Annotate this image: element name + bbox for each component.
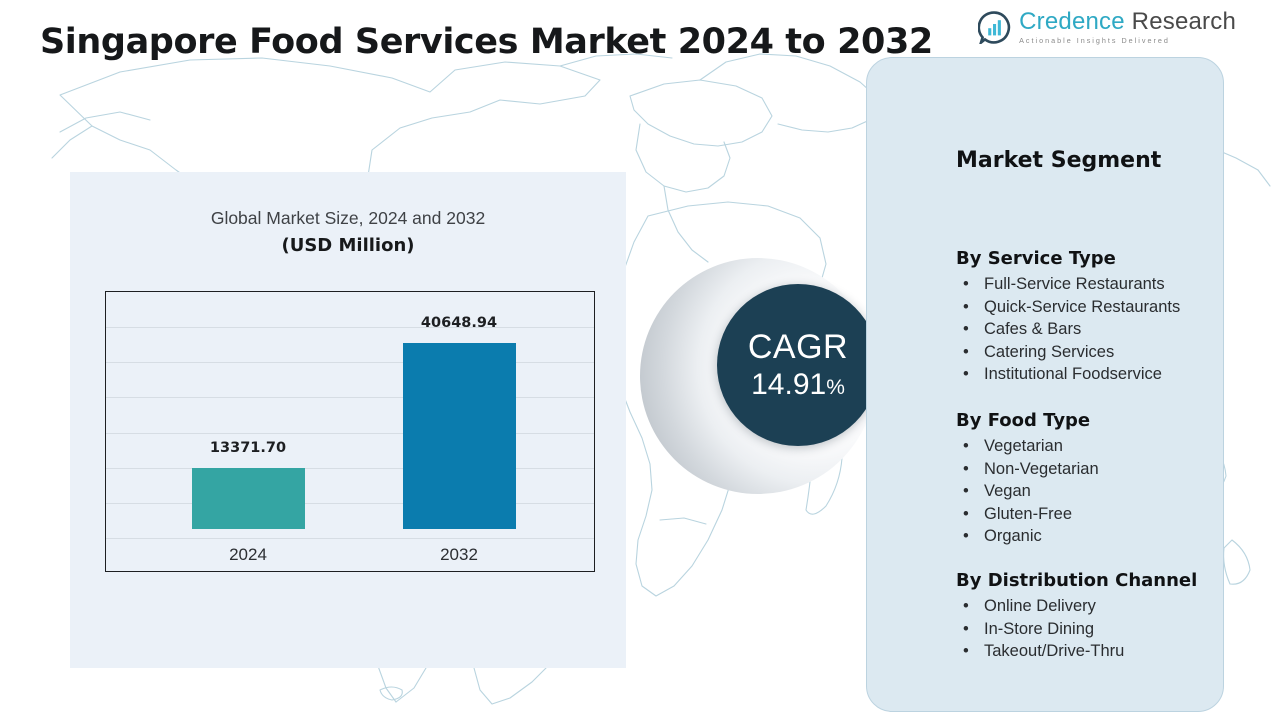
segment-list-item: •Quick-Service Restaurants (956, 296, 1226, 319)
segment-list-item: •Gluten-Free (956, 503, 1226, 526)
chart-title: Global Market Size, 2024 and 2032 (70, 208, 626, 229)
segment-item-label: Vegan (984, 482, 1031, 500)
bar-category-label: 2032 (440, 545, 478, 565)
bullet-icon: • (963, 435, 969, 458)
chart-subtitle: (USD Million) (70, 235, 626, 256)
segment-list-item: •In-Store Dining (956, 618, 1226, 641)
segment-item-label: Non-Vegetarian (984, 460, 1099, 478)
segment-item-label: Vegetarian (984, 437, 1063, 455)
bullet-icon: • (963, 458, 969, 481)
segment-group-1: By Service Type•Full-Service Restaurants… (956, 248, 1226, 386)
market-segment-panel: Market Segment By Service Type•Full-Serv… (866, 57, 1224, 712)
segment-list-item: •Vegetarian (956, 435, 1226, 458)
segment-item-list: •Vegetarian•Non-Vegetarian•Vegan•Gluten-… (956, 435, 1226, 548)
bullet-icon: • (963, 341, 969, 364)
bar-value-label: 13371.70 (210, 440, 286, 456)
bar-rect (403, 343, 516, 529)
cagr-label: CAGR (748, 330, 848, 364)
segment-list-item: •Institutional Foodservice (956, 363, 1226, 386)
brand-logo: Credence Research Actionable Insights De… (978, 10, 1236, 44)
segment-item-label: Full-Service Restaurants (984, 275, 1165, 293)
segment-list-item: •Catering Services (956, 341, 1226, 364)
bar-chart-bubble-icon (978, 11, 1011, 44)
cagr-unit: % (826, 376, 845, 399)
segment-item-label: Quick-Service Restaurants (984, 298, 1180, 316)
segment-list-item: •Full-Service Restaurants (956, 273, 1226, 296)
segment-group-3: By Distribution Channel•Online Delivery•… (956, 570, 1226, 663)
bullet-icon: • (963, 318, 969, 341)
segment-item-label: Gluten-Free (984, 505, 1072, 523)
page-title: Singapore Food Services Market 2024 to 2… (40, 22, 933, 62)
logo-name-primary: Credence (1019, 8, 1125, 35)
cagr-value: 14.91% (751, 370, 845, 400)
segment-item-label: In-Store Dining (984, 620, 1094, 638)
segment-item-label: Online Delivery (984, 597, 1096, 615)
segment-group-title: By Distribution Channel (956, 570, 1226, 591)
segment-list-item: •Takeout/Drive-Thru (956, 640, 1226, 663)
segment-item-label: Organic (984, 527, 1042, 545)
segment-list-item: •Organic (956, 525, 1226, 548)
segment-item-label: Cafes & Bars (984, 320, 1081, 338)
segment-item-list: •Full-Service Restaurants•Quick-Service … (956, 273, 1226, 386)
market-size-chart-panel: Global Market Size, 2024 and 2032 (USD M… (70, 172, 626, 668)
bar-category-label: 2024 (229, 545, 267, 565)
cagr-badge: CAGR 14.91% (717, 284, 879, 446)
segment-list-item: •Non-Vegetarian (956, 458, 1226, 481)
bullet-icon: • (963, 503, 969, 526)
bullet-icon: • (963, 595, 969, 618)
segment-group-title: By Food Type (956, 410, 1226, 431)
bullet-icon: • (963, 273, 969, 296)
segment-item-label: Takeout/Drive-Thru (984, 642, 1124, 660)
segment-group-2: By Food Type•Vegetarian•Non-Vegetarian•V… (956, 410, 1226, 548)
bullet-icon: • (963, 363, 969, 386)
segment-item-list: •Online Delivery•In-Store Dining•Takeout… (956, 595, 1226, 663)
chart-bars: 13371.70202440648.942032 (106, 292, 594, 571)
segment-item-label: Catering Services (984, 343, 1114, 361)
bullet-icon: • (963, 525, 969, 548)
segment-group-title: By Service Type (956, 248, 1226, 269)
segment-list-item: •Cafes & Bars (956, 318, 1226, 341)
logo-wordmark: Credence Research Actionable Insights De… (1019, 10, 1236, 44)
segment-item-label: Institutional Foodservice (984, 365, 1162, 383)
logo-tagline: Actionable Insights Delivered (1019, 37, 1236, 44)
segment-heading: Market Segment (956, 148, 1161, 173)
logo-name-secondary: Research (1125, 8, 1236, 35)
bullet-icon: • (963, 296, 969, 319)
bullet-icon: • (963, 640, 969, 663)
bar-chart-plot-area: 13371.70202440648.942032 (105, 291, 595, 572)
bullet-icon: • (963, 618, 969, 641)
bar-2024: 13371.702024 (192, 468, 305, 529)
cagr-number: 14.91 (751, 368, 826, 401)
bar-rect (192, 468, 305, 529)
segment-list-item: •Online Delivery (956, 595, 1226, 618)
infographic-root: Singapore Food Services Market 2024 to 2… (0, 0, 1280, 720)
bullet-icon: • (963, 480, 969, 503)
segment-list-item: •Vegan (956, 480, 1226, 503)
bar-value-label: 40648.94 (421, 315, 497, 331)
bar-2032: 40648.942032 (403, 343, 516, 529)
